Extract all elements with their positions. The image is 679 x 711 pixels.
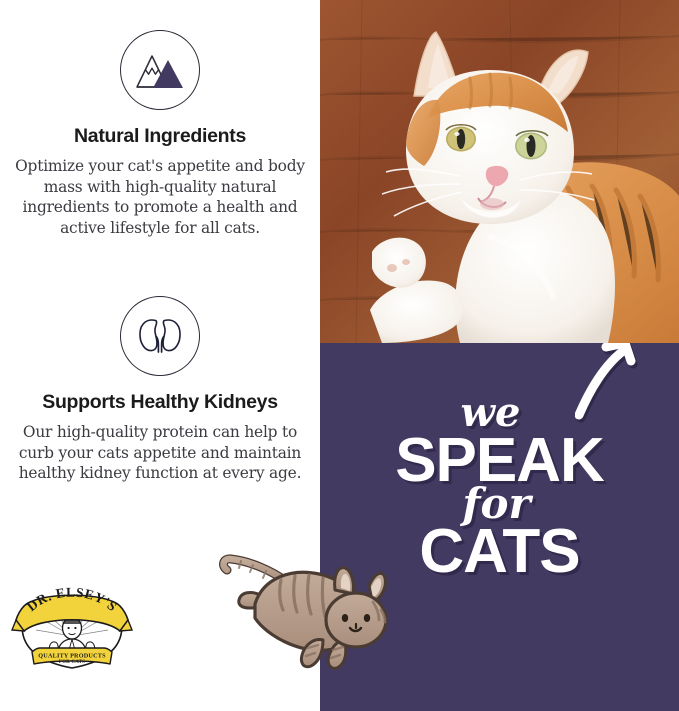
- mountains-icon-circle: [120, 30, 200, 110]
- feature-title: Natural Ingredients: [0, 126, 320, 147]
- product-feature-panel: Natural Ingredients Optimize your cat's …: [0, 0, 679, 711]
- leaping-cartoon-cat-illustration: [219, 548, 391, 670]
- feature-description: Optimize your cat's appetite and body ma…: [12, 156, 308, 238]
- headline: we SPEAK for CATS: [320, 343, 679, 578]
- kidneys-icon-circle: [120, 296, 200, 376]
- dr-elseys-logo-graphic: DR. ELSEY'S QUALITY PRODUCTS FOR CATS: [10, 586, 134, 672]
- cat-photo: [320, 0, 679, 343]
- mountains-icon: [131, 47, 189, 93]
- dr-elseys-logo: DR. ELSEY'S QUALITY PRODUCTS FOR CATS: [10, 586, 134, 672]
- logo-ribbon-line-1: QUALITY PRODUCTS: [38, 652, 106, 659]
- feature-description: Our high-quality protein can help to cur…: [12, 422, 308, 483]
- feature-natural-ingredients: Natural Ingredients Optimize your cat's …: [0, 30, 320, 238]
- cat-photo-illustration: [320, 0, 679, 343]
- logo-ribbon-line-2: FOR CATS: [59, 660, 85, 665]
- cartoon-cat-graphic: [219, 548, 391, 670]
- kidneys-icon: [134, 313, 186, 359]
- feature-title: Supports Healthy Kidneys: [0, 392, 320, 413]
- feature-healthy-kidneys: Supports Healthy Kidneys Our high-qualit…: [0, 296, 320, 484]
